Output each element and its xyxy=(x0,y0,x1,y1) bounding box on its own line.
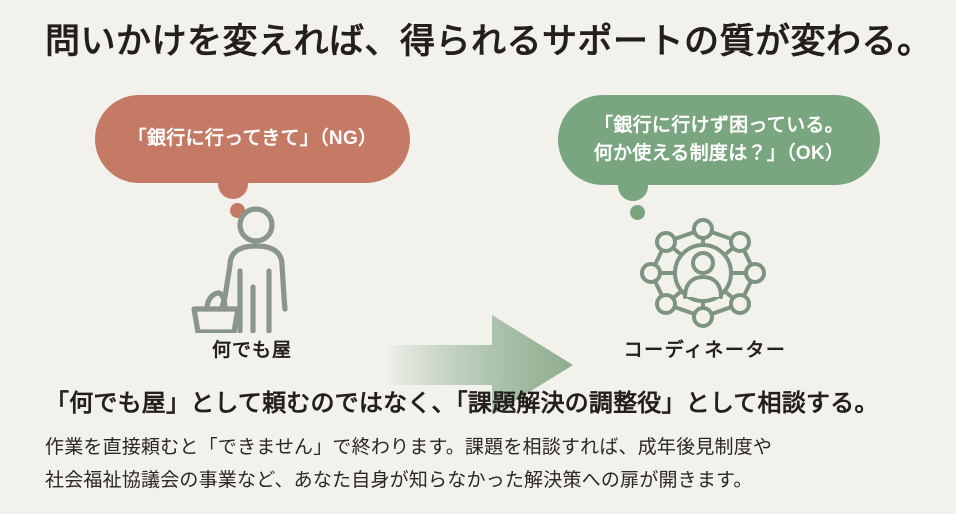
speech-bubble-ok-text: 「銀行に行けず困っている。 何か使える制度は？」（OK） xyxy=(594,112,845,167)
body-copy: 作業を直接頼むと「できません」で終わります。課題を相談すれば、成年後見制度や 社… xyxy=(45,432,935,497)
page-title: 問いかけを変えれば、得られるサポートの質が変わる。 xyxy=(45,20,925,64)
body-copy-line: 作業を直接頼むと「できません」で終わります。課題を相談すれば、成年後見制度や xyxy=(45,432,935,465)
speech-bubble-ng-text: 「銀行に行ってきて」（NG） xyxy=(128,125,378,153)
slide-canvas: 問いかけを変えれば、得られるサポートの質が変わる。 「銀行に行ってきて」（NG） xyxy=(0,0,956,514)
speech-bubble-ng: 「銀行に行ってきて」（NG） xyxy=(95,95,410,183)
network-hub-person-icon xyxy=(635,213,771,338)
thought-tail-lobe-ng-icon xyxy=(218,169,248,199)
body-copy-line: 社会福祉協議会の事業など、あなた自身が知らなかった解決策への扉が開きます。 xyxy=(45,465,935,498)
thought-tail-lobe-ok-icon xyxy=(618,171,648,201)
speech-bubble-ok: 「銀行に行けず困っている。 何か使える制度は？」（OK） xyxy=(558,95,880,185)
person-with-shopping-bag-icon xyxy=(185,205,319,338)
role-label-ok: コーディネーター xyxy=(505,335,905,362)
comparison-stage: 「銀行に行ってきて」（NG） xyxy=(0,95,956,370)
comparison-side-ok: 「銀行に行けず困っている。 何か使える制度は？」（OK） xyxy=(505,95,905,370)
summary-statement: 「何でも屋」として頼むのではなく、「課題解決の調整役」として相談する。 xyxy=(45,388,935,419)
